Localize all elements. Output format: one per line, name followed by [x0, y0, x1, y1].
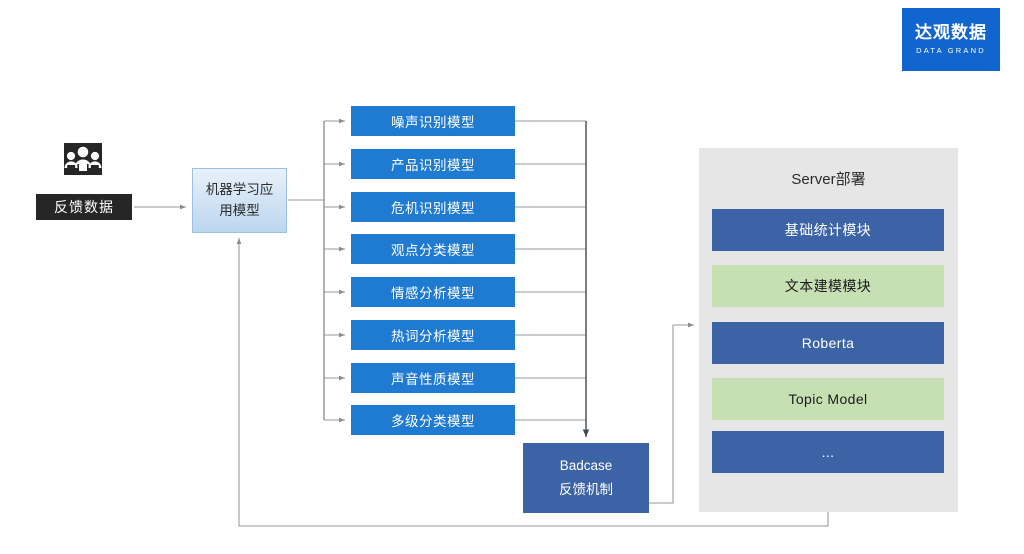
model-box-opinion-classification[interactable]: 观点分类模型: [351, 234, 515, 264]
feedback-data-label: 反馈数据: [36, 194, 132, 220]
model-box-product-recognition[interactable]: 产品识别模型: [351, 149, 515, 179]
server-module-text-modeling[interactable]: 文本建模模块: [712, 265, 944, 307]
server-deployment-title: Server部署: [699, 168, 958, 189]
server-module-topic-model[interactable]: Topic Model: [712, 378, 944, 420]
server-module-more[interactable]: ...: [712, 431, 944, 473]
model-box-sentiment-analysis[interactable]: 情感分析模型: [351, 277, 515, 307]
server-module-basic-statistics[interactable]: 基础统计模块: [712, 209, 944, 251]
badcase-subtitle: 反馈机制: [559, 478, 613, 502]
ml-application-model-label: 机器学习应用模型: [206, 180, 274, 222]
diagram-canvas: 达观数据 DATA GRAND 反馈数据 机器学习应用模型 噪声识别模型 产品识…: [0, 0, 1024, 554]
server-module-roberta[interactable]: Roberta: [712, 322, 944, 364]
logo-chinese-text: 达观数据: [915, 24, 987, 43]
datagrand-logo: 达观数据 DATA GRAND: [902, 8, 1000, 71]
model-box-voice-quality[interactable]: 声音性质模型: [351, 363, 515, 393]
model-box-noise-recognition[interactable]: 噪声识别模型: [351, 106, 515, 136]
ml-application-model-box[interactable]: 机器学习应用模型: [192, 168, 287, 233]
people-group-icon: [64, 143, 102, 175]
model-box-crisis-recognition[interactable]: 危机识别模型: [351, 192, 515, 222]
model-box-hotword-analysis[interactable]: 热词分析模型: [351, 320, 515, 350]
badcase-title: Badcase: [560, 454, 613, 478]
model-box-multilevel-classification[interactable]: 多级分类模型: [351, 405, 515, 435]
badcase-feedback-box[interactable]: Badcase 反馈机制: [523, 443, 649, 513]
logo-english-text: DATA GRAND: [916, 46, 986, 55]
